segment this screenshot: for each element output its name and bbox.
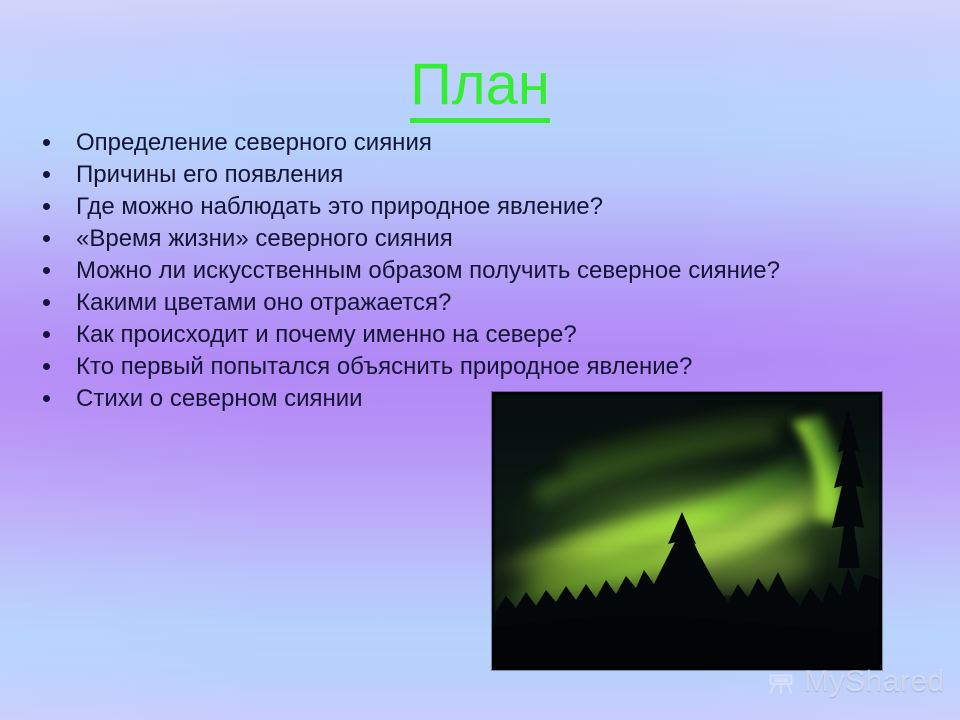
aurora-photo-graphic (492, 392, 882, 670)
myshared-logo-icon (766, 667, 796, 697)
list-item: Определение северного сияния (36, 127, 780, 159)
list-item-label: Как происходит и почему именно на севере… (76, 321, 577, 348)
list-item-label: Можно ли искусственным образом получить … (76, 257, 780, 284)
list-item-label: Кто первый попытался объяснить природное… (76, 353, 692, 380)
presentation-slide: План Определение северного сияния Причин… (0, 0, 960, 720)
bullet-dot-icon (43, 299, 50, 306)
list-item: «Время жизни» северного сияния (36, 223, 780, 255)
aurora-photo (492, 392, 882, 670)
plan-bullet-list: Определение северного сияния Причины его… (36, 127, 780, 415)
bullet-dot-icon (43, 363, 50, 370)
list-item-label: Какими цветами оно отражается? (76, 289, 451, 316)
list-item: Где можно наблюдать это природное явлени… (36, 191, 780, 223)
bullet-dot-icon (43, 171, 50, 178)
page-title-text: План (410, 52, 550, 123)
bullet-dot-icon (43, 203, 50, 210)
list-item: Какими цветами оно отражается? (36, 287, 780, 319)
bullet-dot-icon (43, 331, 50, 338)
watermark-label: MyShared (804, 667, 945, 697)
list-item-label: Определение северного сияния (76, 129, 432, 156)
list-item-label: Стихи о северном сиянии (76, 385, 363, 412)
bullet-dot-icon (43, 235, 50, 242)
list-item: Как происходит и почему именно на севере… (36, 319, 780, 351)
list-item-label: Причины его появления (76, 161, 343, 188)
bullet-dot-icon (43, 139, 50, 146)
list-item-label: «Время жизни» северного сияния (76, 225, 453, 252)
page-title: План (0, 54, 960, 116)
list-item-label: Где можно наблюдать это природное явлени… (76, 193, 603, 220)
bullet-dot-icon (43, 395, 50, 402)
list-item: Кто первый попытался объяснить природное… (36, 351, 780, 383)
list-item: Причины его появления (36, 159, 780, 191)
bullet-dot-icon (43, 267, 50, 274)
list-item: Можно ли искусственным образом получить … (36, 255, 780, 287)
